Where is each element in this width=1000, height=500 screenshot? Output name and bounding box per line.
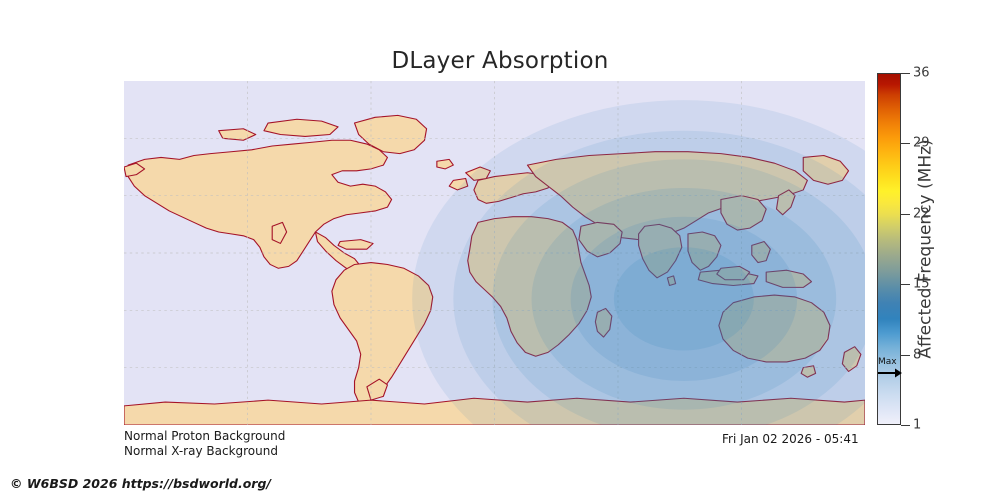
colorbar-tick-mark-8 <box>901 355 910 356</box>
colorbar-axis-label: Affected Frequency (MHz) <box>913 73 939 425</box>
colorbar-tick-mark-1 <box>901 425 910 426</box>
colorbar-gradient[interactable] <box>877 73 901 425</box>
page-title: DLayer Absorption <box>0 48 1000 74</box>
absorption-contour-layer <box>124 81 865 425</box>
credit-label: © W6BSD 2026 https://bsdworld.org/ <box>10 476 271 491</box>
colorbar-tick-mark-36 <box>901 73 910 74</box>
background-status-notes: Normal Proton Background Normal X-ray Ba… <box>124 429 285 459</box>
xray-background-status: Normal X-ray Background <box>124 444 285 459</box>
colorbar-tick-mark-15 <box>901 284 910 285</box>
world-map[interactable] <box>124 81 865 425</box>
colorbar-tick-mark-29 <box>901 143 910 144</box>
absorption-contours <box>412 100 865 425</box>
contour-level-6 <box>614 247 754 350</box>
colorbar-axis-label-text: Affected Frequency (MHz) <box>916 139 936 358</box>
proton-background-status: Normal Proton Background <box>124 429 285 444</box>
timestamp-label: Fri Jan 02 2026 - 05:41 <box>722 432 859 446</box>
colorbar-tick-mark-22 <box>901 214 910 215</box>
